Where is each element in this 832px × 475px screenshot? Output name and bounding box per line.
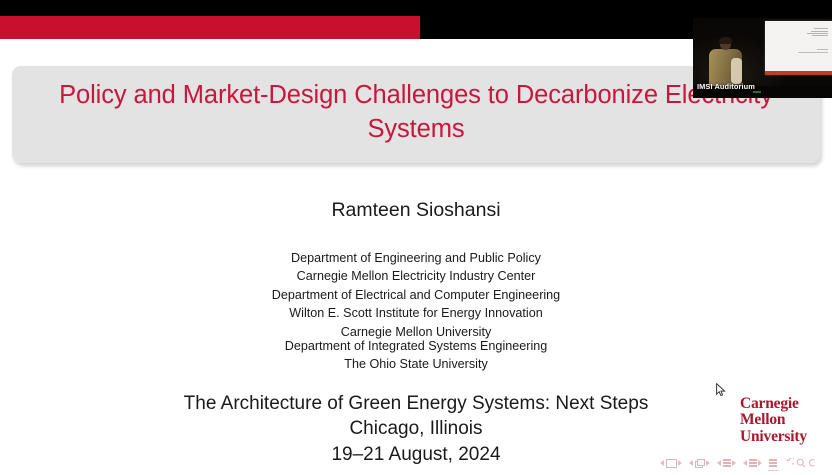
projected-slide-subtext-lines	[784, 47, 828, 55]
logo-line-mellon: Mellon	[740, 412, 828, 428]
go-back-icon[interactable]	[784, 458, 794, 468]
nav-document-group[interactable]	[769, 459, 777, 468]
projected-slide-text-lines	[788, 27, 828, 37]
logo-line-carnegie: Carnegie	[740, 396, 828, 412]
previous-frame-arrow-icon[interactable]	[689, 460, 693, 466]
venue-event: The Architecture of Green Energy Systems…	[0, 391, 832, 416]
previous-section-arrow-icon[interactable]	[743, 460, 747, 466]
presentation-stage: Policy and Market-Design Challenges to D…	[0, 0, 832, 475]
projection-screen-accent	[765, 71, 832, 75]
zoom-in-icon[interactable]	[796, 458, 806, 468]
document-icon[interactable]	[769, 459, 777, 468]
nav-subsection-group[interactable]	[717, 459, 736, 468]
presenter-arm	[731, 58, 742, 84]
venue-location: Chicago, Illinois	[0, 416, 832, 441]
beamer-navigation-bar[interactable]	[660, 455, 824, 471]
next-subsection-arrow-icon[interactable]	[732, 460, 736, 466]
nav-section-group[interactable]	[743, 459, 762, 468]
author-name: Ramteen Sioshansi	[0, 199, 832, 222]
stage-indicator-light	[753, 91, 761, 93]
affiliation-line: The Ohio State University	[0, 355, 832, 373]
projection-screen	[765, 21, 832, 75]
carnegie-mellon-logo: Carnegie Mellon University	[740, 396, 828, 445]
affiliation-line: Department of Engineering and Public Pol…	[0, 249, 832, 267]
affiliation-line: Carnegie Mellon Electricity Industry Cen…	[0, 267, 832, 285]
nav-tools-group[interactable]	[784, 458, 817, 468]
theme-accent-bar	[0, 16, 420, 39]
affiliation-line: Wilton E. Scott Institute for Energy Inn…	[0, 304, 832, 322]
slide-body: Policy and Market-Design Challenges to D…	[0, 39, 832, 475]
next-frame-arrow-icon[interactable]	[706, 460, 710, 466]
video-source-label: IMSI Auditorium	[697, 82, 755, 91]
presenter-hair	[719, 37, 732, 44]
subsection-icon[interactable]	[723, 459, 731, 468]
next-section-arrow-icon[interactable]	[758, 460, 762, 466]
affiliation-secondary: Department of Integrated Systems Enginee…	[0, 337, 832, 374]
zoom-out-icon[interactable]	[807, 458, 817, 468]
next-slide-arrow-icon[interactable]	[678, 460, 682, 466]
affiliation-line: Department of Integrated Systems Enginee…	[0, 337, 832, 355]
frame-icon[interactable]	[695, 459, 705, 467]
nav-slide-group[interactable]	[660, 459, 682, 468]
nav-frame-group[interactable]	[689, 459, 710, 467]
affiliation-primary: Department of Engineering and Public Pol…	[0, 249, 832, 341]
logo-line-university: University	[740, 429, 828, 445]
slide-icon[interactable]	[666, 459, 677, 468]
presenter-video-overlay[interactable]: IMSI Auditorium	[693, 18, 832, 98]
section-icon[interactable]	[749, 459, 757, 468]
page-title: Policy and Market-Design Challenges to D…	[30, 79, 802, 146]
previous-subsection-arrow-icon[interactable]	[717, 460, 721, 466]
affiliation-line: Department of Electrical and Computer En…	[0, 286, 832, 304]
previous-slide-arrow-icon[interactable]	[660, 460, 664, 466]
